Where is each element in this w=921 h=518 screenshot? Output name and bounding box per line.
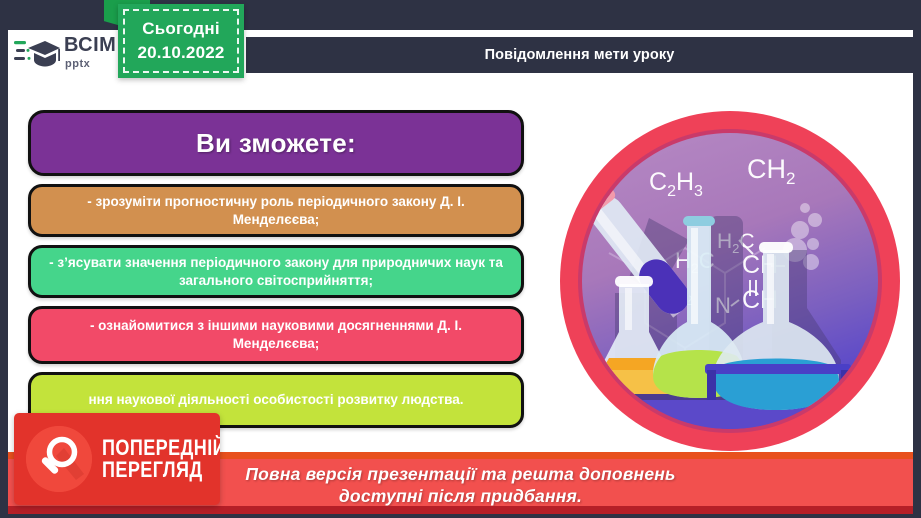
preview-badge[interactable]: ПОПЕРЕДНІЙ ПЕРЕГЛЯД <box>14 413 220 505</box>
header-title-bar: Повідомлення мети уроку <box>246 37 913 73</box>
banner-line-2: доступні після придбання. <box>339 486 582 508</box>
goals-list: Ви зможете: - зрозуміти прогностичну рол… <box>28 110 524 428</box>
goal-item-3-text: - ознайомитися з іншими науковими досягн… <box>45 317 507 353</box>
goal-item-3: - ознайомитися з іншими науковими досягн… <box>28 306 524 364</box>
brand-name: ВСІМ <box>64 34 116 56</box>
page-title: Повідомлення мети уроку <box>485 47 675 63</box>
date-badge-label: Сьогодні <box>142 19 220 39</box>
graduation-cap-icon <box>14 36 60 70</box>
date-badge-value: 20.10.2022 <box>137 43 224 63</box>
date-badge: Сьогодні 20.10.2022 <box>118 4 244 78</box>
flask-stand <box>705 364 851 374</box>
brand-logo[interactable]: ВСІМ pptx <box>14 32 134 74</box>
banner-footer-strip <box>8 506 913 514</box>
chemistry-illustration: C2H3 CH2 H2C H2 H2C CH CH N <box>557 108 903 454</box>
goals-heading: Ви зможете: <box>196 126 356 160</box>
banner-line-1: Повна версія презентації та решта доповн… <box>245 464 675 486</box>
goal-item-4-text: ння наукової діяльності особистості розв… <box>89 391 464 409</box>
goal-item-1-text: - зрозуміти прогностичну роль періодично… <box>45 193 507 229</box>
preview-badge-line-2: ПЕРЕГЛЯД <box>102 459 220 481</box>
brand-suffix: pptx <box>65 58 90 70</box>
slide-root: ВСІМ pptx Сьогодні 20.10.2022 Повідомлен… <box>0 0 921 518</box>
magnifier-icon <box>26 426 92 492</box>
goal-item-2: - з’ясувати значення періодичного закону… <box>28 245 524 298</box>
goals-heading-box: Ви зможете: <box>28 110 524 176</box>
goal-item-1: - зрозуміти прогностичну роль періодично… <box>28 184 524 237</box>
goal-item-2-text: - з’ясувати значення періодичного закону… <box>45 254 507 290</box>
preview-badge-line-1: ПОПЕРЕДНІЙ <box>102 437 220 459</box>
preview-badge-text: ПОПЕРЕДНІЙ ПЕРЕГЛЯД <box>102 437 220 482</box>
